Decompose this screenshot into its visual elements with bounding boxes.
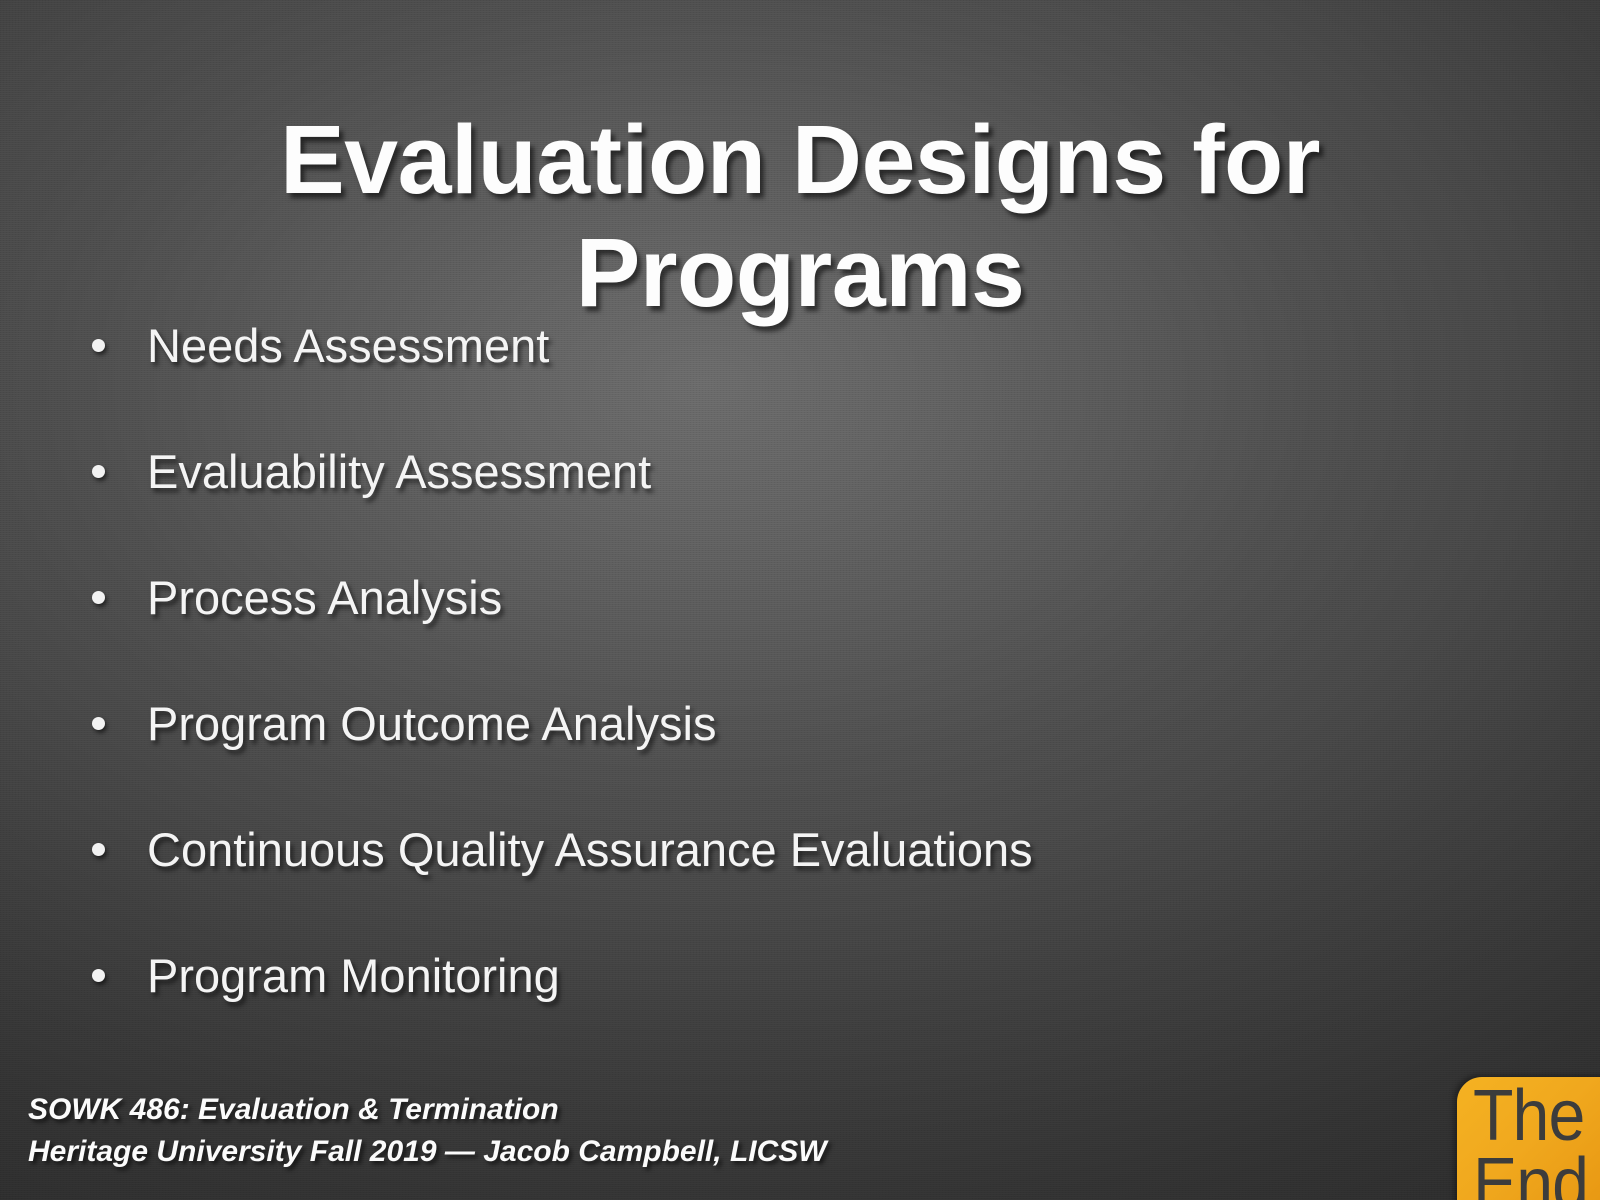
- the-end-badge: The End: [1457, 1077, 1600, 1200]
- bullet-dot-icon: [92, 339, 105, 352]
- list-item: Program Outcome Analysis: [92, 700, 1542, 826]
- bullet-dot-icon: [92, 843, 105, 856]
- list-item-label: Program Monitoring: [147, 952, 1542, 999]
- list-item-label: Evaluability Assessment: [147, 448, 1542, 495]
- list-item: Needs Assessment: [92, 322, 1542, 448]
- list-item: Program Monitoring: [92, 952, 1542, 1078]
- list-item-label: Program Outcome Analysis: [147, 700, 1542, 747]
- bullet-dot-icon: [92, 465, 105, 478]
- list-item-label: Needs Assessment: [147, 322, 1542, 369]
- footer-course-line: SOWK 486: Evaluation & Termination: [28, 1089, 827, 1132]
- the-end-badge-label: The End: [1473, 1083, 1588, 1200]
- slide-footer: SOWK 486: Evaluation & Termination Herit…: [28, 1089, 827, 1174]
- list-item-label: Continuous Quality Assurance Evaluations: [147, 826, 1542, 873]
- slide-title: Evaluation Designs for Programs: [140, 103, 1460, 330]
- bullet-dot-icon: [92, 717, 105, 730]
- list-item-label: Process Analysis: [147, 574, 1542, 621]
- list-item: Process Analysis: [92, 574, 1542, 700]
- presentation-slide: Evaluation Designs for Programs Needs As…: [0, 0, 1600, 1200]
- list-item: Continuous Quality Assurance Evaluations: [92, 826, 1542, 952]
- footer-attribution-line: Heritage University Fall 2019 — Jacob Ca…: [28, 1131, 827, 1174]
- bullet-list: Needs Assessment Evaluability Assessment…: [92, 322, 1542, 1078]
- list-item: Evaluability Assessment: [92, 448, 1542, 574]
- bullet-dot-icon: [92, 969, 105, 982]
- bullet-dot-icon: [92, 591, 105, 604]
